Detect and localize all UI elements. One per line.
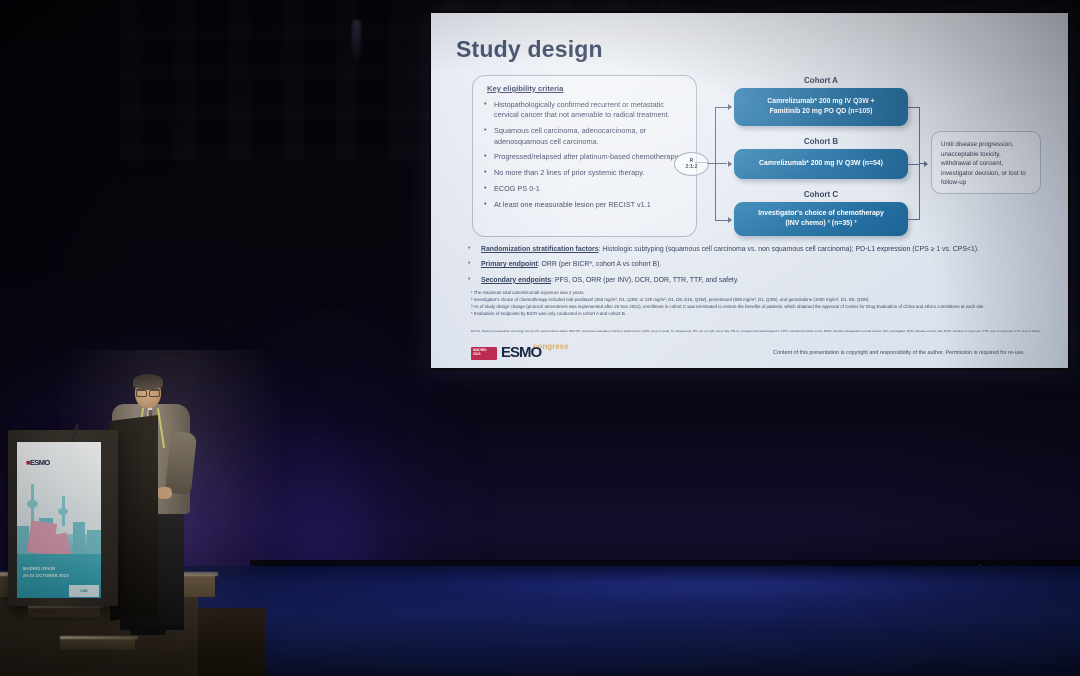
list-item: At least one measurable lesion per RECIS…	[483, 200, 689, 210]
footnote: ² Investigator's choice of chemotherapy …	[471, 297, 1051, 304]
footnote: ³ As of study design change (protocol am…	[471, 304, 1051, 311]
podium-banner: ■ESMO MADRID SPAIN 20-24 OCTOBER 2023 CH…	[17, 442, 101, 598]
esmo-logo: MADRID 2023 congress ESMO	[471, 344, 591, 364]
key-eligibility-criteria-box: Key eligibility criteria Histopathologic…	[472, 75, 697, 237]
endpoint-text: : PFS, OS, ORR (per INV), DCR, DOR, TTR,…	[551, 277, 739, 284]
endpoint-text: : Histologic subtyping (squamous cell ca…	[599, 246, 979, 253]
speaker-hair	[133, 374, 163, 389]
abbreviations-line: ECOG, Eastern Cooperative Oncology Group…	[471, 329, 1061, 334]
footnote: * Evaluation of endpoints by BICR was on…	[471, 311, 1051, 318]
cohort-a-label: Cohort A	[734, 76, 908, 85]
list-item: No more than 2 lines of prior systemic t…	[483, 168, 689, 178]
endpoints-section: Randomization stratification factors: Hi…	[459, 245, 1045, 291]
endpoint-label: Primary endpoint	[481, 261, 538, 268]
endpoint-row: Secondary endpoints: PFS, OS, ORR (per I…	[459, 276, 1045, 285]
arrow-cohort-b	[728, 161, 732, 167]
esmo-wordmark: ESMO	[501, 344, 541, 361]
hanging-lamp-icon	[352, 20, 361, 62]
banner-text-block: MADRID SPAIN 20-24 OCTOBER 2023	[23, 566, 69, 579]
cohort-c-line1: Investigator's choice of chemotherapy	[758, 209, 884, 219]
cohort-a-line1: Camrelizumab* 200 mg IV Q3W +	[767, 97, 874, 107]
cohort-c-line2: (INV chemo) ² (n=35) ³	[785, 219, 856, 229]
stage-step-second	[28, 607, 100, 617]
presentation-slide: Study design Key eligibility criteria Hi…	[431, 13, 1068, 368]
banner-date-line: 20-24 OCTOBER 2023	[23, 573, 69, 580]
endpoint-row: Randomization stratification factors: Hi…	[459, 245, 1045, 254]
banner-esmo-logo: ■ESMO	[26, 458, 50, 467]
cohort-b-line1: Camrelizumab* 200 mg IV Q3W (n=54)	[759, 159, 883, 169]
banner-tower-bulb	[27, 500, 38, 508]
connector-r-out	[707, 163, 727, 164]
arrow-cohort-c	[728, 217, 732, 223]
endpoint-label: Randomization stratification factors	[481, 246, 599, 253]
footnotes-section: ¹ The maximum total camrelizumab exposur…	[471, 290, 1051, 318]
esmo-madrid-line2: 2023	[473, 353, 496, 357]
list-item: ECOG PS 0-1	[483, 184, 689, 194]
arrow-cohort-a	[728, 104, 732, 110]
speaker-shoes	[130, 626, 166, 635]
connector-vertical-trunk	[715, 107, 716, 220]
floor-blue-light-sheen	[250, 575, 1080, 625]
stage-step-third	[60, 638, 135, 650]
connector-to-cohort-c	[715, 220, 729, 221]
cohort-a-box: Camrelizumab* 200 mg IV Q3W + Famitinib …	[734, 88, 908, 126]
speaker-hand	[157, 487, 172, 499]
randomization-ratio: 2:1:2	[686, 164, 698, 170]
treatment-until-box: Until disease progression, unacceptable …	[931, 131, 1041, 194]
cohort-b-box: Camrelizumab* 200 mg IV Q3W (n=54)	[734, 149, 908, 179]
banner-cityscape-illustration	[17, 482, 101, 560]
banner-logo-esmo: ESMO	[30, 458, 50, 467]
esmo-madrid-tag: MADRID 2023	[471, 347, 497, 360]
cohort-a-line2: Famitinib 20 mg PO QD (n=105)	[770, 107, 873, 117]
banner-tower-bulb	[58, 508, 68, 515]
list-item: Progressed/relapsed after platinum-based…	[483, 152, 689, 162]
endpoint-label: Secondary endpoints	[481, 277, 551, 284]
randomization-node: R 2:1:2	[674, 152, 709, 176]
conference-hall-scene: Study design Key eligibility criteria Hi…	[0, 0, 1080, 676]
endpoint-row: Primary endpoint: ORR (per BICR*, cohort…	[459, 260, 1045, 269]
eligibility-heading: Key eligibility criteria	[487, 84, 563, 93]
list-item: Squamous cell carcinoma, adenocarcinoma,…	[483, 126, 689, 147]
slide-title: Study design	[456, 36, 603, 63]
cohort-b-label: Cohort B	[734, 137, 908, 146]
list-item: Histopathologically confirmed recurrent …	[483, 100, 689, 121]
stage-step-third-edge-light	[60, 636, 138, 639]
arrow-outcome	[924, 161, 928, 167]
cohort-c-box: Investigator's choice of chemotherapy (I…	[734, 202, 908, 236]
eyeglasses-icon	[136, 389, 160, 395]
eligibility-list: Histopathologically confirmed recurrent …	[483, 100, 689, 216]
footnote: ¹ The maximum total camrelizumab exposur…	[471, 290, 1051, 297]
cohort-c-label: Cohort C	[734, 190, 908, 199]
slide-copyright-notice: Content of this presentation is copyrigh…	[749, 350, 1049, 356]
banner-corner-mark: CHE	[69, 585, 99, 597]
endpoint-text: : ORR (per BICR*, cohort A vs cohort B).	[538, 261, 662, 268]
connector-to-cohort-a	[715, 107, 729, 108]
